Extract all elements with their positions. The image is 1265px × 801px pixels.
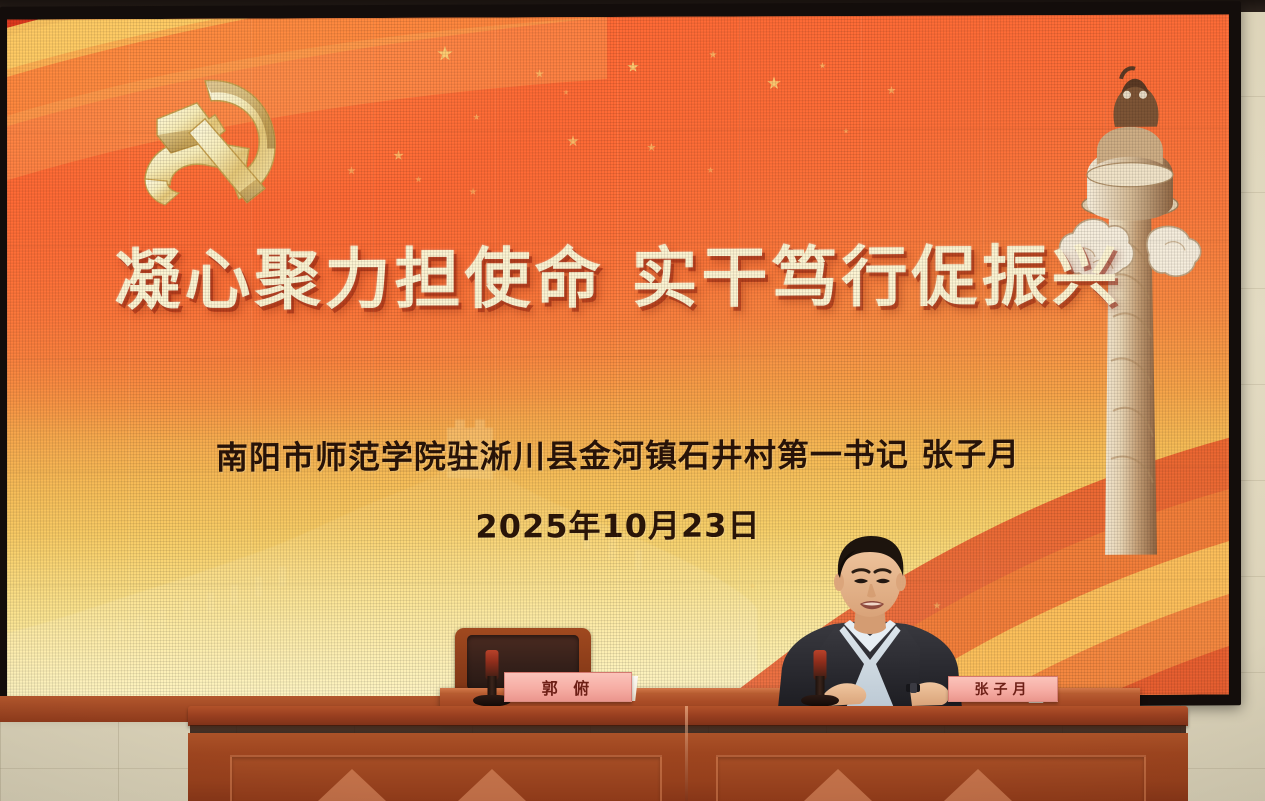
decor-star (469, 188, 477, 196)
decor-star (627, 61, 639, 73)
decor-star (535, 69, 544, 78)
decor-star (347, 166, 356, 175)
decor-star (647, 143, 656, 152)
decor-star (563, 89, 569, 95)
lectern-panel-right (716, 755, 1146, 801)
lectern-chevron (458, 769, 526, 801)
slide-title: 凝心聚力担使命 实干笃行促振兴 (7, 222, 1229, 323)
name-placard-left: 郭 俯 (504, 672, 632, 702)
lectern-chevron (804, 769, 872, 801)
decor-star (843, 128, 849, 134)
led-screen-bezel: 凝心聚力担使命 实干笃行促振兴 南阳市师范学院驻淅川县金河镇石井村第一书记 张子… (0, 1, 1241, 710)
decor-star (393, 150, 404, 161)
decor-star (437, 46, 453, 62)
cpc-emblem-icon (119, 56, 309, 222)
lectern-top (188, 706, 1188, 726)
decor-star (473, 114, 480, 121)
decor-star (707, 167, 714, 174)
microphone-right (798, 650, 842, 706)
microphone-base (801, 695, 839, 706)
lectern (188, 706, 1188, 801)
led-screen: 凝心聚力担使命 实干笃行促振兴 南阳市师范学院驻淅川县金河镇石井村第一书记 张子… (7, 14, 1229, 699)
decor-star (567, 135, 579, 147)
lectern-panel-left (230, 755, 662, 801)
lectern-body (188, 733, 1188, 801)
lectern-center-seam (685, 706, 688, 801)
lectern-chevron (318, 769, 386, 801)
slide-date: 2025年10月23日 (7, 498, 1229, 549)
decor-star (415, 176, 422, 183)
decor-star (709, 51, 717, 59)
decor-star (767, 76, 781, 90)
slide-subtitle: 南阳市师范学院驻淅川县金河镇石井村第一书记 张子月 (7, 428, 1229, 479)
screenshot-root: 凝心聚力担使命 实干笃行促振兴 南阳市师范学院驻淅川县金河镇石井村第一书记 张子… (0, 0, 1265, 801)
decor-star (887, 86, 896, 95)
decor-star (819, 62, 826, 69)
name-placard-right: 张子月 (948, 676, 1058, 702)
lectern-chevron (944, 769, 1012, 801)
